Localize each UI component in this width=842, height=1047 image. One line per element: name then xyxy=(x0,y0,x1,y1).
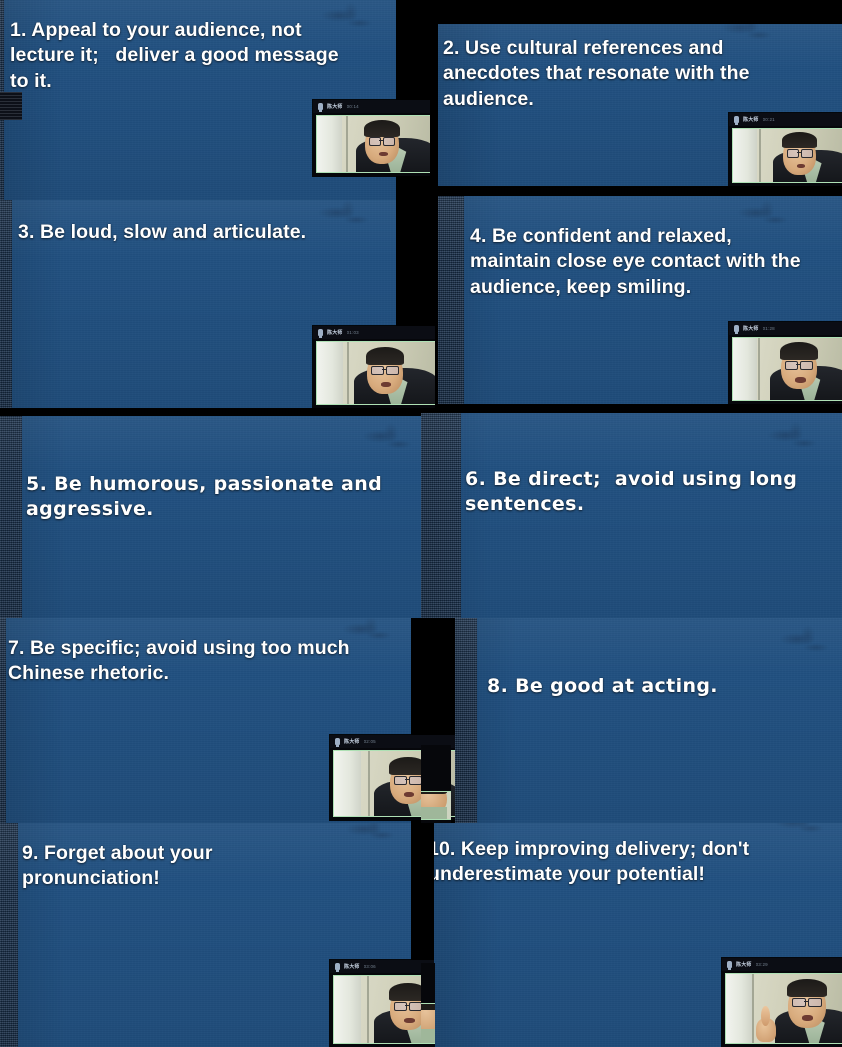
webcam-video-3 xyxy=(316,341,435,405)
webcam-video-2 xyxy=(732,128,842,183)
webcam-thumbnail-2[interactable]: 陈大师 00:21 xyxy=(729,113,842,186)
microphone-icon xyxy=(318,103,323,110)
webcam-thumbnail-10[interactable]: 陈大师 03:29 xyxy=(722,958,842,1047)
webcam-name-9: 陈大师 xyxy=(344,963,360,970)
microphone-icon xyxy=(335,738,340,745)
tip-text-6: 6. Be direct; avoid using long sentences… xyxy=(465,467,817,516)
webcam-thumbnail-3[interactable]: 陈大师 01:03 xyxy=(313,326,435,408)
microphone-icon xyxy=(318,329,323,336)
webcam-name-2: 陈大师 xyxy=(743,116,759,123)
webcam-video-1 xyxy=(316,115,430,173)
webcam-time-3: 01:03 xyxy=(347,330,359,335)
webcam-time-7: 02:05 xyxy=(364,739,376,744)
panel-edge-texture xyxy=(0,618,6,823)
webcam-time-1: 00:14 xyxy=(347,104,359,109)
webcam-name-1: 陈大师 xyxy=(327,103,343,110)
speaker-hair xyxy=(366,347,404,365)
panel-edge-texture xyxy=(421,413,461,618)
watermark-smudge-icon xyxy=(768,421,826,457)
webcam-time-9: 03:06 xyxy=(364,964,376,969)
microphone-icon xyxy=(727,961,732,968)
microphone-icon xyxy=(734,325,739,332)
webcam-name-10: 陈大师 xyxy=(736,961,752,968)
collage-canvas: 1. Appeal to your audience, not lecture … xyxy=(0,0,842,1047)
slide-panel-5[interactable]: 5. Be humorous, passionate and aggressiv… xyxy=(0,416,421,618)
webcam-thumbnail-4[interactable]: 陈大师 01:28 xyxy=(729,322,842,404)
slide-panel-8[interactable]: 8. Be good at acting. xyxy=(455,618,842,823)
webcam-titlebar-3: 陈大师 01:03 xyxy=(313,326,435,339)
tip-text-10: 10. Keep improving delivery; don't under… xyxy=(434,837,758,888)
tip-text-1: 1. Appeal to your audience, not lecture … xyxy=(10,18,362,94)
webcam-time-10: 03:29 xyxy=(756,962,768,967)
webcam-titlebar-4: 陈大师 01:28 xyxy=(729,322,842,335)
tip-text-2: 2. Use cultural references and anecdotes… xyxy=(443,36,783,112)
panel-sheen xyxy=(455,618,842,823)
panel-edge-texture xyxy=(0,200,12,408)
webcam-video-10 xyxy=(725,973,842,1044)
panel-edge-texture xyxy=(438,196,464,404)
speaker-hair xyxy=(787,979,827,997)
speaker-hair xyxy=(780,342,818,360)
webcam-time-2: 00:21 xyxy=(763,117,775,122)
webcam-name-7: 陈大师 xyxy=(344,738,360,745)
webcam-name-3: 陈大师 xyxy=(327,329,343,336)
speaker-hair xyxy=(782,132,817,148)
webcam-thumbnail-slice-left-10 xyxy=(421,963,435,1047)
panel-edge-texture xyxy=(455,618,477,823)
tip-text-7: 7. Be specific; avoid using too much Chi… xyxy=(8,636,368,687)
tip-text-9: 9. Forget about your pronunciation! xyxy=(22,841,352,892)
tip-text-3: 3. Be loud, slow and articulate. xyxy=(18,220,378,245)
webcam-titlebar-2: 陈大师 00:21 xyxy=(729,113,842,126)
watermark-smudge-icon xyxy=(347,823,403,845)
panel-edge-texture xyxy=(0,823,18,1047)
speaker-pointing-finger xyxy=(761,1006,770,1026)
webcam-time-4: 01:28 xyxy=(763,326,775,331)
tip-text-4: 4. Be confident and relaxed, maintain cl… xyxy=(470,224,812,300)
speaker-hair xyxy=(364,120,400,137)
webcam-titlebar-1: 陈大师 00:14 xyxy=(313,100,430,113)
webcam-titlebar-10: 陈大师 03:29 xyxy=(722,958,842,971)
webcam-name-4: 陈大师 xyxy=(743,325,759,332)
tip-text-5: 5. Be humorous, passionate and aggressiv… xyxy=(26,472,384,521)
webcam-thumbnail-1[interactable]: 陈大师 00:14 xyxy=(313,100,430,176)
watermark-smudge-icon xyxy=(363,422,421,458)
microphone-icon xyxy=(734,116,739,123)
webcam-video-4 xyxy=(732,337,842,401)
webcam-thumbnail-slice-left-8 xyxy=(421,745,451,823)
watermark-smudge-icon xyxy=(780,624,838,662)
watermark-smudge-icon xyxy=(776,823,832,839)
tip-text-8: 8. Be good at acting. xyxy=(487,674,817,699)
microphone-icon xyxy=(335,963,340,970)
panel-edge-texture xyxy=(0,416,22,618)
slide-panel-6[interactable]: 6. Be direct; avoid using long sentences… xyxy=(421,413,842,618)
ui-widget-fragment xyxy=(0,92,22,120)
panel-noise xyxy=(455,618,842,823)
